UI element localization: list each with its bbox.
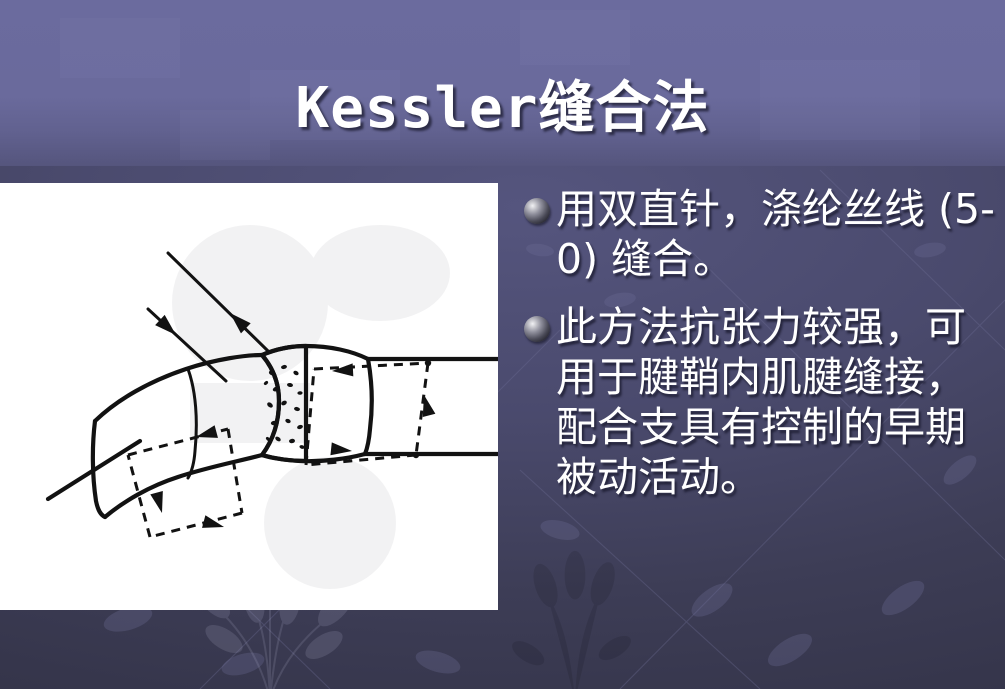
tendon-repair-diagram [0, 183, 498, 543]
figure-panel: 图 8 Kessler 缝合法 [0, 183, 498, 610]
presentation-slide: Kessler缝合法 [0, 0, 1005, 689]
bullet-text: 用双直针，涤纶丝线 (5-0) 缝合。 [556, 184, 1000, 284]
bullet-text: 此方法抗张力较强，可用于腱鞘内肌腱缝接，配合支具有控制的早期被动活动。 [556, 302, 1000, 502]
page-title: Kessler缝合法 [0, 80, 1005, 139]
bullet-item: 此方法抗张力较强，可用于腱鞘内肌腱缝接，配合支具有控制的早期被动活动。 [524, 302, 1000, 502]
sphere-bullet-icon [524, 316, 550, 342]
sphere-bullet-icon [524, 198, 550, 224]
bullet-list: 用双直针，涤纶丝线 (5-0) 缝合。 此方法抗张力较强，可用于腱鞘内肌腱缝接，… [524, 184, 1000, 520]
bullet-item: 用双直针，涤纶丝线 (5-0) 缝合。 [524, 184, 1000, 284]
